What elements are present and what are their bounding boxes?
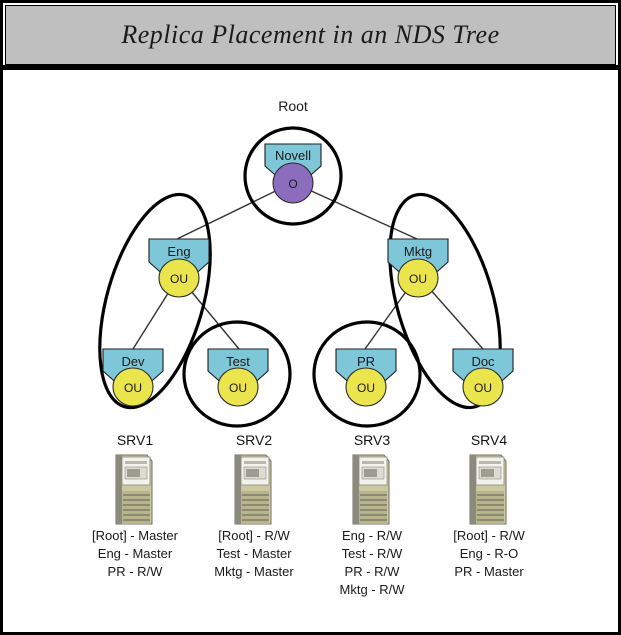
diagram-canvas: Root Novell O Eng OU Mktg OU [5,71,616,630]
server-srv3[interactable]: SRV3 [340,432,406,597]
node-test[interactable]: Test OU [208,349,268,406]
srv3-replica-2: PR - R/W [345,564,401,579]
srv4-replica-0: [Root] - R/W [453,528,525,543]
partition-ring-eng [79,182,232,420]
node-mktg[interactable]: Mktg OU [388,239,448,297]
node-pr[interactable]: PR OU [336,349,396,406]
srv4-name: SRV4 [471,432,508,448]
eng-label: Eng [167,244,190,259]
srv1-replica-0: [Root] - Master [92,528,179,543]
srv3-tower-icon [353,455,389,524]
test-label: Test [226,354,250,369]
server-srv2[interactable]: SRV2 [214,432,294,579]
node-novell[interactable]: Novell O [265,144,321,203]
srv1-replica-2: PR - R/W [108,564,164,579]
mktg-type-label: OU [409,272,427,286]
page-title: Replica Placement in an NDS Tree [121,20,499,50]
server-srv1[interactable]: SRV1 [92,432,179,579]
server-srv4[interactable]: SRV4 [453,432,525,579]
srv4-tower-icon [470,455,506,524]
title-banner: Replica Placement in an NDS Tree [5,5,616,65]
novell-type-label: O [288,177,297,191]
root-label: Root [278,98,308,114]
edge-novell-eng [177,184,290,239]
srv1-tower-icon [116,455,152,524]
mktg-label: Mktg [404,244,432,259]
srv3-replica-3: Mktg - R/W [340,582,406,597]
srv2-replica-1: Test - Master [216,546,292,561]
srv2-replica-0: [Root] - R/W [218,528,290,543]
diagram-page: Replica Placement in an NDS Tree [0,0,621,635]
eng-type-label: OU [170,272,188,286]
srv2-name: SRV2 [236,432,273,448]
test-type-label: OU [229,381,247,395]
srv3-replica-1: Test - R/W [342,546,403,561]
dev-type-label: OU [124,381,142,395]
pr-label: PR [357,354,375,369]
srv1-name: SRV1 [117,432,154,448]
dev-label: Dev [121,354,145,369]
pr-type-label: OU [357,381,375,395]
node-doc[interactable]: Doc OU [453,349,513,406]
srv1-replica-1: Eng - Master [98,546,173,561]
srv4-replica-1: Eng - R-O [460,546,519,561]
doc-type-label: OU [474,381,492,395]
srv3-replica-0: Eng - R/W [342,528,403,543]
novell-label: Novell [275,148,311,163]
srv4-replica-2: PR - Master [454,564,524,579]
srv2-replica-2: Mktg - Master [214,564,294,579]
nds-tree-svg: Root Novell O Eng OU Mktg OU [5,71,616,630]
doc-label: Doc [471,354,495,369]
node-eng[interactable]: Eng OU [149,239,209,297]
srv3-name: SRV3 [354,432,391,448]
srv2-tower-icon [235,455,271,524]
